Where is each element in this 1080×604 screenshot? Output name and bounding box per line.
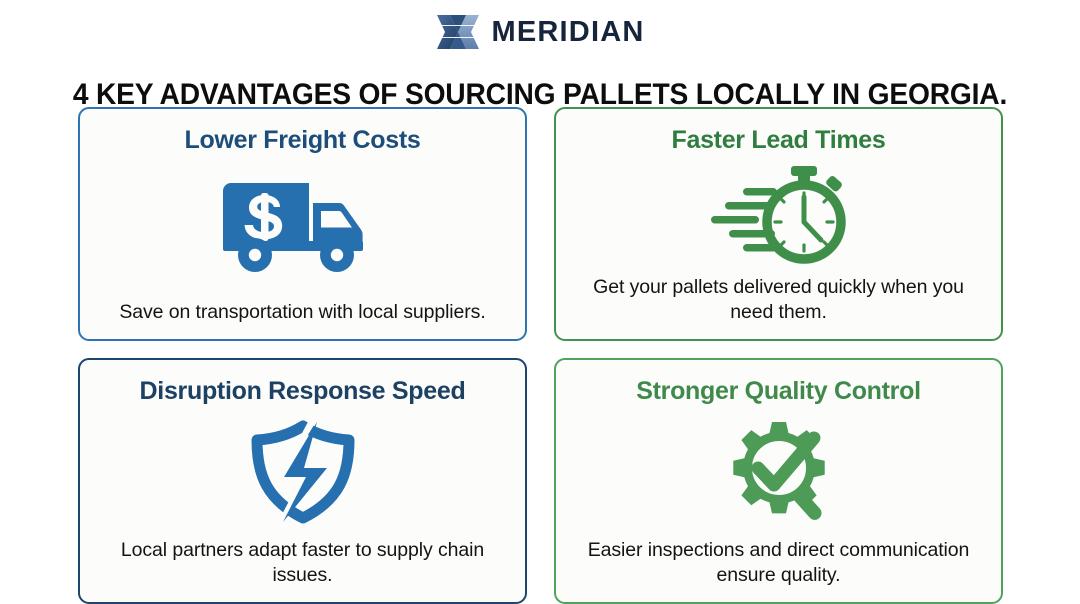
infographic-page: MERIDIAN 4 KEY ADVANTAGES OF SOURCING PA… (0, 0, 1080, 603)
meridian-m-logo-icon (436, 13, 480, 51)
delivery-truck-dollar-icon (94, 155, 511, 301)
card-disruption-response-speed[interactable]: Disruption Response Speed (78, 358, 527, 604)
advantages-grid: Lower Freight Costs (78, 107, 1003, 604)
card-description: Save on transportation with local suppli… (119, 300, 485, 325)
shield-lightning-icon (94, 406, 511, 539)
brand-name: MERIDIAN (492, 18, 645, 47)
card-title: Faster Lead Times (672, 127, 886, 155)
card-faster-lead-times[interactable]: Faster Lead Times (554, 107, 1003, 341)
card-description: Local partners adapt faster to supply ch… (103, 538, 503, 588)
card-lower-freight-costs[interactable]: Lower Freight Costs (78, 107, 527, 341)
gear-checkmark-magnifier-icon (570, 406, 987, 539)
card-title: Disruption Response Speed (140, 378, 466, 406)
card-description: Get your pallets delivered quickly when … (579, 275, 979, 325)
card-stronger-quality-control[interactable]: Stronger Quality Control Easier i (554, 358, 1003, 604)
card-title: Stronger Quality Control (636, 378, 920, 406)
stopwatch-speed-icon (570, 155, 987, 276)
brand-header: MERIDIAN (0, 10, 1080, 54)
card-description: Easier inspections and direct communicat… (579, 538, 979, 588)
card-title: Lower Freight Costs (185, 127, 421, 155)
